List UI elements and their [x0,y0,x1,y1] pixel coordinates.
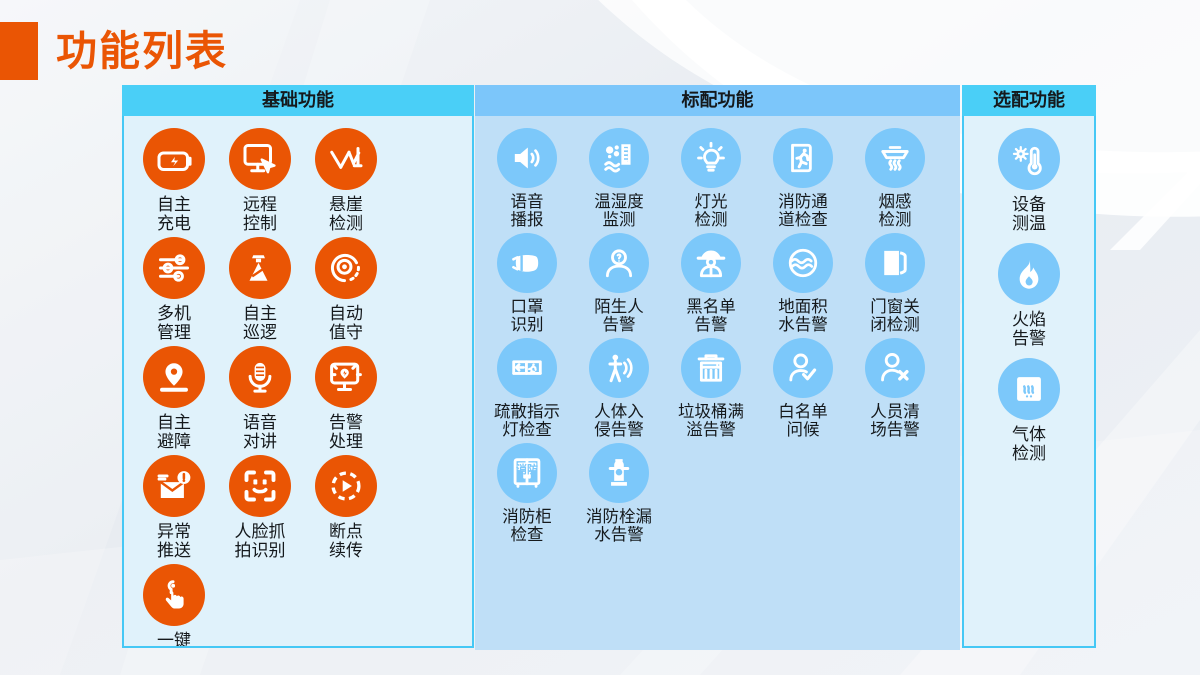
feature-item[interactable]: 地面积 水告警 [757,233,849,335]
feature-label: 消防柜 检查 [502,508,552,545]
feature-icon-bubble[interactable] [229,128,291,190]
water-waves-icon [786,246,820,280]
feature-label: 火焰 告警 [1012,310,1046,348]
feature-label: 黑名单 告警 [686,298,736,335]
feature-item[interactable]: 消防栓漏 水告警 [573,443,665,545]
feature-icon-bubble[interactable] [315,346,377,408]
feature-item[interactable]: 垃圾桶满 溢告警 [665,338,757,440]
feature-grid-basic: 自主 充电远程 控制悬崖 检测多机 管理自主 巡逻自动 值守自主 避障语音 对讲… [124,116,472,648]
lightbulb-icon [694,141,728,175]
feature-item[interactable]: 陌生人 告警 [573,233,665,335]
person-remove-icon [878,351,912,385]
feature-icon-bubble[interactable] [865,128,925,188]
feature-label: 温湿度 监测 [594,193,644,230]
alarm-screen-icon [328,359,364,395]
feature-label: 语音 播报 [511,193,544,230]
patrol-guard-icon [242,250,278,286]
feature-item[interactable]: 异常 推送 [131,455,217,560]
feature-label: 灯光 检测 [695,193,728,230]
feature-icon-bubble[interactable] [998,358,1060,420]
feature-item[interactable]: 门窗关 闭检测 [849,233,941,335]
feature-icon-bubble[interactable] [143,346,205,408]
feature-item[interactable]: 疏散指示 灯检查 [481,338,573,440]
battery-charge-icon [156,141,192,177]
feature-icon-bubble[interactable] [229,346,291,408]
feature-icon-bubble[interactable] [315,128,377,190]
feature-icon-bubble[interactable] [589,443,649,503]
feature-item[interactable]: 火焰 告警 [964,243,1094,348]
fire-hydrant-icon [602,456,636,490]
feature-icon-bubble[interactable]: 消防 [497,443,557,503]
feature-item[interactable]: 黑名单 告警 [665,233,757,335]
stranger-person-icon [602,246,636,280]
feature-item[interactable]: 人脸抓 拍识别 [217,455,303,560]
feature-item[interactable]: 自动 值守 [303,237,389,342]
one-key-touch-icon [156,577,192,613]
feature-item[interactable]: 悬崖 检测 [303,128,389,233]
feature-label: 白名单 问候 [778,403,828,440]
obstacle-avoid-icon [156,359,192,395]
feature-item[interactable]: 自主 巡逻 [217,237,303,342]
feature-item[interactable]: 语音 播报 [481,128,573,230]
feature-label: 人员清 场告警 [870,403,920,440]
feature-label: 异常 推送 [157,522,191,560]
feature-item[interactable]: 人员清 场告警 [849,338,941,440]
cliff-detect-icon [328,141,364,177]
feature-label: 自主 充电 [157,195,191,233]
face-capture-icon [242,468,278,504]
feature-icon-bubble[interactable] [143,455,205,517]
feature-icon-bubble[interactable] [998,243,1060,305]
feature-label: 远程 控制 [243,195,277,233]
remote-monitor-icon [242,141,278,177]
page-title: 功能列表 [56,31,228,72]
feature-icon-bubble[interactable] [589,128,649,188]
feature-label: 地面积 水告警 [778,298,828,335]
feature-label: 烟感 检测 [879,193,912,230]
feature-item[interactable]: 断点 续传 [303,455,389,560]
feature-icon-bubble[interactable] [773,338,833,398]
door-closed-icon [878,246,912,280]
feature-icon-bubble[interactable] [143,237,205,299]
mail-alert-icon [156,468,192,504]
feature-label: 自动 值守 [329,304,363,342]
feature-label: 门窗关 闭检测 [870,298,920,335]
feature-item[interactable]: 自主 充电 [131,128,217,233]
column-body-basic: 自主 充电远程 控制悬崖 检测多机 管理自主 巡逻自动 值守自主 避障语音 对讲… [122,116,474,648]
feature-icon-bubble[interactable] [773,233,833,293]
feature-item[interactable]: 设备 测温 [964,128,1094,233]
feature-grid-optional: 设备 测温火焰 告警气体 检测 [964,116,1094,473]
column-basic: 基础功能 自主 充电远程 控制悬崖 检测多机 管理自主 巡逻自动 值守自主 避障… [122,85,474,648]
column-body-standard: 语音 播报温湿度 监测灯光 检测消防通 道检查烟感 检测口罩 识别陌生人 告警黑… [475,116,960,650]
feature-label: 人脸抓 拍识别 [235,522,286,560]
blacklist-spy-icon [694,246,728,280]
trash-bin-icon [694,351,728,385]
feature-icon-bubble[interactable] [143,564,205,626]
feature-label: 语音 对讲 [243,413,277,451]
feature-label: 疏散指示 灯检查 [494,403,560,440]
feature-label: 消防栓漏 水告警 [586,508,652,545]
feature-item[interactable]: 自主 避障 [131,346,217,451]
column-standard: 标配功能 语音 播报温湿度 监测灯光 检测消防通 道检查烟感 检测口罩 识别陌生… [475,85,960,650]
feature-icon-bubble[interactable] [681,128,741,188]
feature-item[interactable]: 口罩 识别 [481,233,573,335]
humidity-temp-icon [602,141,636,175]
sliders-icon [156,250,192,286]
feature-label: 自主 避障 [157,413,191,451]
feature-icon-bubble[interactable] [229,455,291,517]
function-board: 基础功能 自主 充电远程 控制悬崖 检测多机 管理自主 巡逻自动 值守自主 避障… [0,0,1200,675]
feature-icon-bubble[interactable] [865,338,925,398]
feature-item[interactable]: 烟感 检测 [849,128,941,230]
feature-icon-bubble[interactable] [589,338,649,398]
feature-icon-bubble[interactable] [315,237,377,299]
feature-label: 告警 处理 [329,413,363,451]
feature-icon-bubble[interactable] [315,455,377,517]
gas-detect-icon [1012,372,1046,406]
feature-icon-bubble[interactable] [497,338,557,398]
column-header-basic: 基础功能 [122,85,474,116]
feature-label: 多机 管理 [157,304,191,342]
page-title-bar: 功能列表 [0,22,228,80]
whitelist-check-icon [786,351,820,385]
feature-label: 消防通 道检查 [778,193,828,230]
speaker-icon [510,141,544,175]
feature-label: 人体入 侵告警 [594,403,644,440]
feature-item[interactable]: 白名单 问候 [757,338,849,440]
feature-icon-bubble[interactable] [773,128,833,188]
feature-item[interactable]: 消防消防柜 检查 [481,443,573,545]
feature-grid-standard: 语音 播报温湿度 监测灯光 检测消防通 道检查烟感 检测口罩 识别陌生人 告警黑… [475,116,960,548]
feature-icon-bubble[interactable] [143,128,205,190]
fire-cabinet-glyph-text: 消防 [516,461,538,477]
feature-item[interactable]: 一键 到达 [131,564,217,648]
feature-icon-bubble[interactable] [589,233,649,293]
feature-label: 口罩 识别 [511,298,544,335]
column-header-standard: 标配功能 [475,85,960,116]
microphone-icon [242,359,278,395]
feature-label: 自主 巡逻 [243,304,277,342]
column-body-optional: 设备 测温火焰 告警气体 检测 [962,116,1096,648]
feature-icon-bubble[interactable] [497,233,557,293]
feature-icon-bubble[interactable] [998,128,1060,190]
feature-label: 设备 测温 [1012,195,1046,233]
column-header-optional: 选配功能 [962,85,1096,116]
smoke-detector-icon [878,141,912,175]
resume-play-icon [328,468,364,504]
feature-label: 垃圾桶满 溢告警 [678,403,744,440]
motion-intrusion-icon [602,351,636,385]
face-mask-icon [510,246,544,280]
feature-label: 断点 续传 [329,522,363,560]
feature-icon-bubble[interactable] [229,237,291,299]
feature-label: 悬崖 检测 [329,195,363,233]
flame-icon [1012,257,1046,291]
feature-item[interactable]: 远程 控制 [217,128,303,233]
feature-label: 陌生人 告警 [594,298,644,335]
thermometer-sun-icon [1012,142,1046,176]
feature-item[interactable]: 气体 检测 [964,358,1094,463]
feature-label: 气体 检测 [1012,425,1046,463]
feature-icon-bubble[interactable] [865,233,925,293]
feature-item[interactable]: 温湿度 监测 [573,128,665,230]
fire-exit-door-icon [786,141,820,175]
feature-item[interactable]: 语音 对讲 [217,346,303,451]
feature-item[interactable]: 人体入 侵告警 [573,338,665,440]
feature-icon-bubble[interactable] [681,233,741,293]
feature-item[interactable]: 消防通 道检查 [757,128,849,230]
auto-duty-icon [328,250,364,286]
feature-icon-bubble[interactable] [681,338,741,398]
feature-item[interactable]: 多机 管理 [131,237,217,342]
feature-item[interactable]: 告警 处理 [303,346,389,451]
column-optional: 选配功能 设备 测温火焰 告警气体 检测 [962,85,1096,648]
exit-sign-lamp-icon [510,351,544,385]
title-accent-block [0,22,38,80]
feature-icon-bubble[interactable] [497,128,557,188]
feature-item[interactable]: 灯光 检测 [665,128,757,230]
feature-label: 一键 到达 [157,631,191,648]
